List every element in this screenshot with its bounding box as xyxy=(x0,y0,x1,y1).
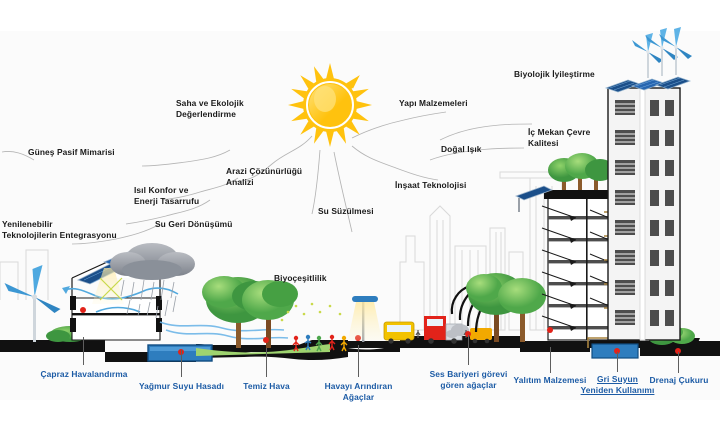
label-ic-mekan-cevre-kalitesi: İç Mekan Çevre Kalitesi xyxy=(528,127,590,148)
callout-capraz-havalandirma: Çapraz Havalandırma xyxy=(38,369,130,380)
marker-dot xyxy=(547,327,553,333)
label-yapi-malzemeleri: Yapı Malzemeleri xyxy=(399,98,468,109)
label-insaat-teknolojisi: İnşaat Teknolojisi xyxy=(395,180,466,191)
label-arazi-cozunurlugu-analizi: Arazi Çözünürlüğü Analizi xyxy=(226,166,302,187)
marker-dot xyxy=(80,307,86,313)
callout-stem xyxy=(617,352,618,372)
callout-stem xyxy=(678,352,679,373)
label-su-geri-donusumu: Su Geri Dönüşümü xyxy=(155,219,232,230)
label-saha-ve-ekolojik-degerlendirme: Saha ve Ekolojik Değerlendirme xyxy=(176,98,244,119)
label-biyolojik-iyilestirme: Biyolojik İyileştirme xyxy=(514,69,595,80)
label-isil-konfor-ve-enerji-tasarrufu: Isıl Konfor ve Enerji Tasarrufu xyxy=(134,185,199,206)
callout-temiz-hava: Temiz Hava xyxy=(240,381,293,392)
callout-havayi-arindiran-agaclar: Havayı Arındıran Ağaçlar xyxy=(322,381,395,402)
sun-icon xyxy=(288,63,372,147)
callout-stem xyxy=(266,348,267,377)
callout-yagmur-suyu-hasadi: Yağmur Suyu Hasadı xyxy=(137,381,226,392)
callout-ses-bariyeri-goren-agaclar: Ses Bariyeri görevi gören ağaçlar xyxy=(425,369,512,390)
callout-stem xyxy=(181,350,182,377)
infographic-canvas: Güneş Pasif Mimarisi Yenilenebilir Tekno… xyxy=(0,0,720,427)
vehicle-bus xyxy=(384,322,414,344)
callout-stem xyxy=(83,337,84,365)
label-gunes-pasif-mimarisi: Güneş Pasif Mimarisi xyxy=(28,147,115,158)
callout-stem xyxy=(550,347,551,373)
label-su-suzulmesi: Su Süzülmesi xyxy=(318,206,374,217)
tower-wind-turbines xyxy=(632,27,692,78)
greywater-tank xyxy=(592,344,638,358)
label-biyocesitlilik: Biyoçeşitlilik xyxy=(274,273,327,284)
label-yenilenebilir-teknolojilerin-entegrasyonu: Yenilenebilir Teknolojilerin Entegrasyon… xyxy=(2,219,117,240)
callout-stem xyxy=(468,335,469,365)
callout-drenaj-cukuru: Drenaj Çukuru xyxy=(645,375,713,386)
rooftop-trees xyxy=(548,153,615,190)
callout-stem xyxy=(358,345,359,377)
marker-dot xyxy=(263,337,269,343)
callout-gri-suyun-yeniden-kullanimi: Gri Suyun Yeniden Kullanımı xyxy=(580,374,655,395)
residential-tower xyxy=(606,27,692,340)
street-lamp xyxy=(348,296,382,342)
label-dogal-isik: Doğal Işık xyxy=(441,144,482,155)
